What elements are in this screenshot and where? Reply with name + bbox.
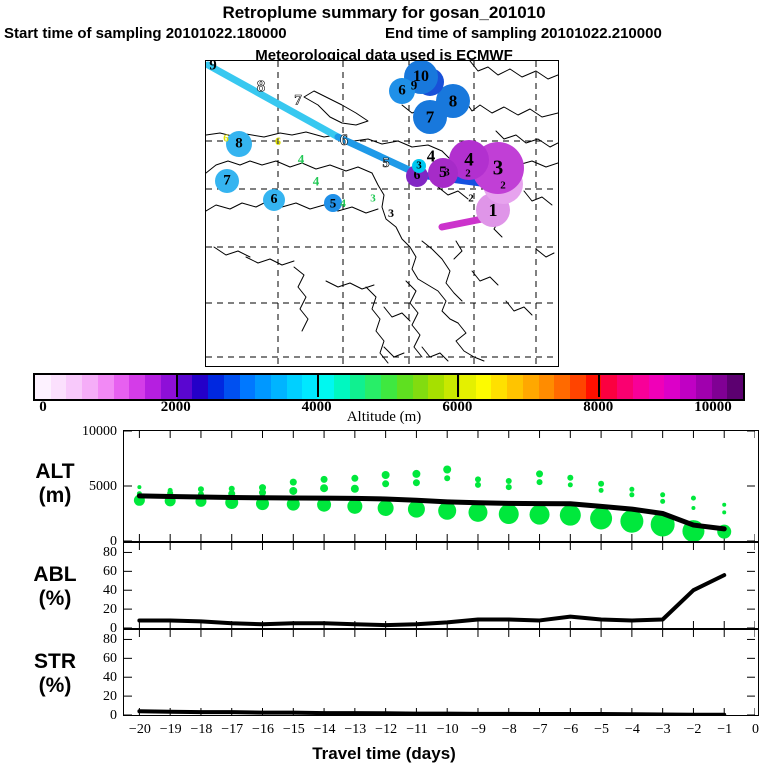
colorbar-swatch bbox=[350, 375, 366, 399]
x-tick-label: −18 bbox=[190, 722, 212, 738]
altitude-cluster-point bbox=[629, 492, 634, 497]
series-line bbox=[139, 575, 724, 625]
colorbar-swatch bbox=[727, 375, 743, 399]
x-tick-label: −20 bbox=[129, 722, 151, 738]
str-panel[interactable] bbox=[123, 629, 759, 716]
x-tick-label: 0 bbox=[752, 722, 759, 738]
altitude-cluster-point bbox=[590, 507, 612, 529]
colorbar-swatch bbox=[318, 375, 334, 399]
colorbar-swatch bbox=[664, 375, 680, 399]
altitude-cluster-point bbox=[475, 482, 481, 488]
altitude-cluster-point bbox=[506, 478, 512, 484]
start-time-label: Start time of sampling 20101022.180000 bbox=[4, 25, 287, 42]
map-age-label: 7 bbox=[294, 94, 302, 109]
altitude-cluster-point bbox=[620, 510, 643, 533]
colorbar-swatch bbox=[680, 375, 696, 399]
map-cluster-label: 3 bbox=[493, 158, 504, 179]
map-age-label: 8 bbox=[257, 78, 266, 95]
colorbar-swatch bbox=[570, 375, 586, 399]
map-age-label: 5 bbox=[383, 157, 390, 171]
colorbar-swatch bbox=[601, 375, 617, 399]
colorbar-swatch bbox=[114, 375, 130, 399]
plot-graphics bbox=[124, 543, 755, 628]
altitude-cluster-point bbox=[660, 499, 665, 504]
colorbar-swatch bbox=[177, 375, 193, 399]
altitude-cluster-point bbox=[290, 479, 297, 486]
y-tick-label: 40 bbox=[57, 670, 117, 686]
colorbar-swatch bbox=[129, 375, 145, 399]
altitude-cluster-point bbox=[722, 510, 726, 514]
altitude-cluster-point bbox=[443, 466, 451, 474]
colorbar-swatch bbox=[35, 375, 51, 399]
x-tick-label: −13 bbox=[344, 722, 366, 738]
colorbar-swatch bbox=[554, 375, 570, 399]
map-age-label: 6 bbox=[275, 135, 281, 147]
x-tick-label: −5 bbox=[594, 722, 609, 738]
x-axis-title: Travel time (days) bbox=[0, 744, 768, 764]
map-age-label: 9 bbox=[411, 79, 418, 92]
altitude-cluster-point bbox=[599, 488, 604, 493]
map-age-label: 4 bbox=[313, 175, 320, 188]
altitude-cluster-point bbox=[629, 487, 634, 492]
x-tick-label: −7 bbox=[533, 722, 548, 738]
x-tick-label: −12 bbox=[375, 722, 397, 738]
colorbar-swatch bbox=[287, 375, 303, 399]
x-tick-label: −15 bbox=[283, 722, 305, 738]
y-tick-label: 20 bbox=[57, 689, 117, 705]
map-cluster-label: 7 bbox=[223, 174, 231, 189]
altitude-cluster-point bbox=[560, 505, 581, 526]
colorbar-swatch bbox=[381, 375, 397, 399]
x-tick-label: −2 bbox=[686, 722, 701, 738]
colorbar-swatch bbox=[192, 375, 208, 399]
x-tick-label: −19 bbox=[160, 722, 182, 738]
colorbar-divider bbox=[598, 373, 600, 397]
x-tick-label: −4 bbox=[625, 722, 640, 738]
colorbar-swatch bbox=[255, 375, 271, 399]
x-tick-label: −6 bbox=[563, 722, 578, 738]
y-tick-label: 20 bbox=[57, 602, 117, 618]
map-age-label: 4 bbox=[340, 197, 346, 209]
colorbar-swatch bbox=[271, 375, 287, 399]
y-tick-label: 5000 bbox=[57, 479, 117, 495]
altitude-cluster-point bbox=[413, 479, 420, 486]
altitude-cluster-point bbox=[382, 471, 390, 479]
altitude-colorbar bbox=[33, 373, 745, 401]
altitude-cluster-point bbox=[567, 475, 573, 481]
altitude-cluster-point bbox=[468, 503, 487, 522]
altitude-cluster-point bbox=[598, 481, 604, 487]
altitude-cluster-point bbox=[499, 504, 519, 524]
altitude-cluster-point bbox=[691, 496, 696, 501]
colorbar-swatch bbox=[208, 375, 224, 399]
colorbar-divider bbox=[317, 373, 319, 397]
x-tick-label: −17 bbox=[221, 722, 243, 738]
plot-graphics bbox=[124, 630, 755, 715]
map-age-label: 2 bbox=[500, 181, 506, 192]
colorbar-swatch bbox=[98, 375, 114, 399]
map-cluster-label: 6 bbox=[271, 193, 278, 207]
colorbar-tick-label: 6000 bbox=[442, 399, 472, 416]
colorbar-swatch bbox=[161, 375, 177, 399]
abl-panel[interactable] bbox=[123, 542, 759, 629]
altitude-panel[interactable] bbox=[123, 430, 759, 542]
map-cluster-label: 7 bbox=[426, 109, 435, 126]
colorbar-divider bbox=[457, 373, 459, 397]
altitude-cluster-point bbox=[506, 484, 512, 490]
altitude-cluster-point bbox=[351, 475, 358, 482]
altitude-cluster-point bbox=[408, 501, 425, 518]
x-tick-label: −11 bbox=[406, 722, 427, 738]
colorbar-swatch bbox=[476, 375, 492, 399]
map-age-label: 6 bbox=[223, 134, 229, 145]
altitude-cluster-point bbox=[259, 489, 266, 496]
colorbar-tick-label: 8000 bbox=[583, 399, 613, 416]
colorbar-swatch bbox=[696, 375, 712, 399]
y-tick-label: 80 bbox=[57, 632, 117, 648]
map-age-label: 2 bbox=[468, 194, 474, 205]
altitude-cluster-point bbox=[347, 499, 362, 514]
map-age-label: 6 bbox=[340, 133, 348, 149]
x-tick-label: −16 bbox=[252, 722, 274, 738]
colorbar-swatch bbox=[66, 375, 82, 399]
colorbar-swatch bbox=[224, 375, 240, 399]
altitude-cluster-point bbox=[320, 484, 328, 492]
colorbar-tick-label: 0 bbox=[39, 399, 47, 416]
colorbar-swatch bbox=[365, 375, 381, 399]
colorbar-swatch bbox=[51, 375, 67, 399]
map-age-label: 9 bbox=[209, 60, 217, 74]
map-age-label: 3 bbox=[444, 168, 450, 179]
map-cluster-label: 3 bbox=[416, 161, 422, 172]
y-tick-label: 80 bbox=[57, 545, 117, 561]
plot-graphics bbox=[124, 431, 755, 541]
colorbar-swatch bbox=[712, 375, 728, 399]
map-age-label: 3 bbox=[370, 194, 376, 205]
colorbar-swatch bbox=[617, 375, 633, 399]
x-tick-label: −9 bbox=[471, 722, 486, 738]
map-cluster-label: 5 bbox=[330, 197, 337, 210]
colorbar-swatch bbox=[649, 375, 665, 399]
altitude-cluster-point bbox=[475, 476, 481, 482]
colorbar-tick-label: 4000 bbox=[302, 399, 332, 416]
page-title: Retroplume summary for gosan_201010 bbox=[0, 3, 768, 23]
colorbar-swatch bbox=[460, 375, 476, 399]
y-tick-label: 40 bbox=[57, 583, 117, 599]
x-tick-label: −8 bbox=[502, 722, 517, 738]
altitude-cluster-point bbox=[378, 500, 394, 516]
colorbar-divider bbox=[176, 373, 178, 397]
altitude-cluster-point bbox=[722, 503, 726, 507]
map-age-label: 4 bbox=[427, 148, 436, 165]
colorbar-swatch bbox=[428, 375, 444, 399]
y-tick-label: 0 bbox=[57, 708, 117, 724]
altitude-cluster-point bbox=[351, 485, 359, 493]
y-tick-label: 60 bbox=[57, 651, 117, 667]
retroplume-map[interactable]: 12345678910638765987654664443332229 bbox=[205, 60, 559, 367]
altitude-cluster-point bbox=[536, 470, 543, 477]
x-tick-label: −10 bbox=[437, 722, 459, 738]
altitude-cluster-point bbox=[444, 475, 450, 481]
altitude-cluster-point bbox=[321, 476, 328, 483]
x-tick-label: −1 bbox=[717, 722, 732, 738]
map-cluster-label: 6 bbox=[398, 84, 406, 99]
altitude-cluster-point bbox=[530, 505, 550, 525]
y-tick-label: 10000 bbox=[57, 424, 117, 440]
map-age-label: 2 bbox=[465, 169, 471, 180]
series-line bbox=[139, 711, 724, 715]
x-tick-label: −3 bbox=[656, 722, 671, 738]
colorbar-swatch bbox=[240, 375, 256, 399]
colorbar-swatch bbox=[491, 375, 507, 399]
colorbar-tick-label: 10000 bbox=[694, 399, 732, 416]
x-tick-label: −14 bbox=[314, 722, 336, 738]
y-tick-label: 60 bbox=[57, 564, 117, 580]
colorbar-swatch bbox=[633, 375, 649, 399]
end-time-label: End time of sampling 20101022.210000 bbox=[385, 25, 662, 42]
colorbar-swatch bbox=[82, 375, 98, 399]
colorbar-tick-label: 2000 bbox=[161, 399, 191, 416]
altitude-cluster-point bbox=[382, 480, 389, 487]
map-cluster-label: 8 bbox=[449, 93, 458, 110]
colorbar-swatch bbox=[507, 375, 523, 399]
altitude-cluster-point bbox=[691, 506, 695, 510]
map-age-label: 4 bbox=[298, 153, 305, 166]
colorbar-swatch bbox=[539, 375, 555, 399]
map-cluster-label: 8 bbox=[235, 137, 243, 152]
colorbar-swatch bbox=[334, 375, 350, 399]
map-age-label: 3 bbox=[388, 207, 394, 219]
altitude-cluster-point bbox=[412, 470, 420, 478]
colorbar-swatch bbox=[413, 375, 429, 399]
colorbar-swatch bbox=[397, 375, 413, 399]
altitude-cluster-point bbox=[289, 487, 297, 495]
altitude-cluster-point bbox=[537, 479, 543, 485]
colorbar-swatch bbox=[145, 375, 161, 399]
altitude-cluster-point bbox=[568, 482, 573, 487]
colorbar-swatch bbox=[523, 375, 539, 399]
map-cluster-label: 1 bbox=[489, 201, 498, 219]
altitude-cluster-point bbox=[137, 485, 141, 489]
altitude-cluster-point bbox=[660, 492, 665, 497]
